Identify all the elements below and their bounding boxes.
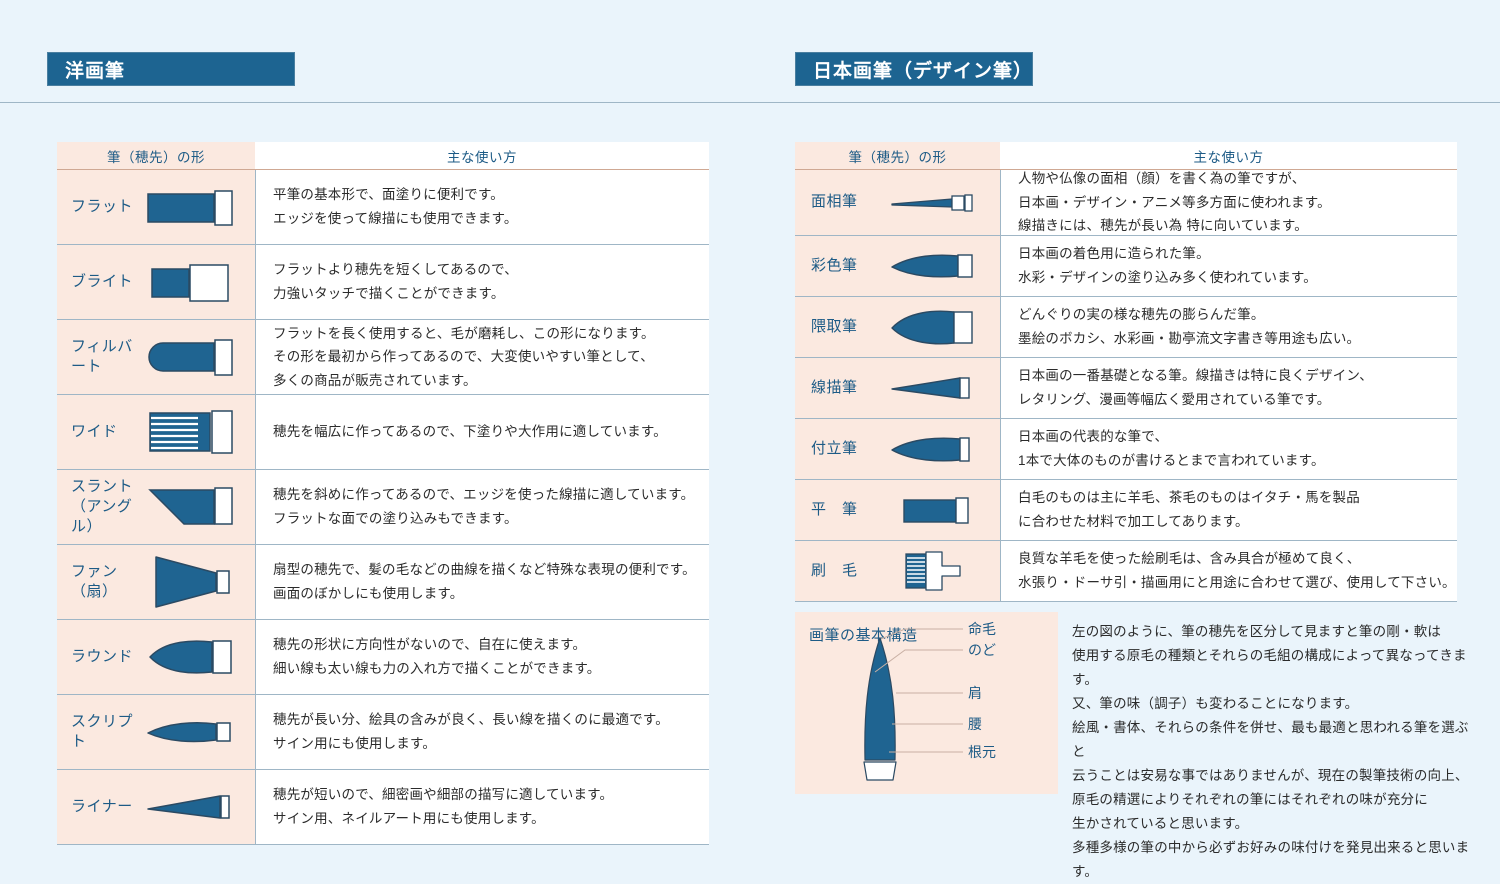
structure-label-nodo: のど	[968, 642, 996, 658]
structure-label-nemoto: 根元	[968, 744, 996, 760]
brush-structure-panel: 画筆の基本構造 命毛 のど 肩 腰 根元	[795, 612, 1058, 794]
column-header-usage: 主な使い方	[255, 142, 709, 169]
wide-brush-icon	[143, 407, 255, 457]
structure-label-koshi: 腰	[968, 716, 982, 732]
brush-name: ファン（扇）	[57, 562, 143, 603]
table-row: 隈取筆 どんぐりの実の様な穂先の膨らんだ筆。 墨絵のボカシ、水彩画・勘亭流文字書…	[795, 297, 1457, 358]
shape-cell: スラント （アングル）	[57, 470, 255, 544]
brush-name: ワイド	[57, 422, 143, 442]
brush-name: ブライト	[57, 272, 143, 292]
usage-text: どんぐりの実の様な穂先の膨らんだ筆。 墨絵のボカシ、水彩画・勘亭流文字書き等用途…	[1018, 303, 1360, 350]
usage-cell: 穂先を幅広に作ってあるので、下塗りや大作用に適しています。	[255, 395, 709, 469]
column-header-shape: 筆（穂先）の形	[795, 142, 1000, 169]
western-brush-table: 筆（穂先）の形 主な使い方 フラット 平筆の基本形で、面塗りに便利です。 エッジ…	[57, 142, 709, 845]
shape-cell: ラウンド	[57, 620, 255, 694]
brush-name: フラット	[57, 197, 143, 217]
table-row: フィルバート フラットを長く使用すると、毛が磨耗し、この形になります。 その形を…	[57, 320, 709, 395]
usage-cell: 良質な羊毛を使った絵刷毛は、含み具合が極めて良く、 水張り・ドーサ引・描画用にと…	[1000, 541, 1457, 601]
saishiki-brush-icon	[879, 249, 1000, 283]
usage-cell: 日本画の代表的な筆で、 1本で大体のものが書けるとまで言われています。	[1000, 419, 1457, 479]
structure-label-kata: 肩	[968, 685, 982, 701]
shape-cell: 隈取筆	[795, 297, 1000, 357]
usage-cell: 白毛のものは主に羊毛、茶毛のものはイタチ・馬を製品 に合わせた材料で加工してあり…	[1000, 480, 1457, 540]
table-row: スラント （アングル） 穂先を斜めに作ってあるので、エッジを使った線描に適してい…	[57, 470, 709, 545]
usage-text: 日本画の着色用に造られた筆。 水彩・デザインの塗り込み多く使われています。	[1018, 242, 1317, 289]
shape-cell: 平 筆	[795, 480, 1000, 540]
table-header-row: 筆（穂先）の形 主な使い方	[57, 142, 709, 170]
liner-brush-icon	[143, 787, 255, 827]
shape-cell: ワイド	[57, 395, 255, 469]
table-row: ワイド	[57, 395, 709, 470]
usage-cell: フラットより穂先を短くしてあるので、 力強いタッチで描くことができます。	[255, 245, 709, 319]
table-row: 付立筆 日本画の代表的な筆で、 1本で大体のものが書けるとまで言われています。	[795, 419, 1457, 480]
table-row: 刷 毛	[795, 541, 1457, 602]
tsuketate-brush-icon	[879, 433, 1000, 465]
usage-text: 扇型の穂先で、髪の毛などの曲線を描くなど特殊な表現の便利です。 画面のぼかしにも…	[273, 558, 696, 605]
japanese-brush-table: 筆（穂先）の形 主な使い方 面相筆 人物や仏像の面相（顔）を書く為の筆ですが、 …	[795, 142, 1457, 602]
brush-name: ライナー	[57, 797, 143, 817]
usage-text: 穂先が長い分、絵具の含みが良く、長い線を描くのに最適です。 サイン用にも使用しま…	[273, 708, 669, 755]
table-row: 彩色筆 日本画の着色用に造られた筆。 水彩・デザインの塗り込み多く使われています…	[795, 236, 1457, 297]
brush-structure-diagram: 命毛 のど 肩 腰 根元	[795, 612, 1058, 794]
top-divider	[0, 102, 1500, 103]
brush-name: ラウンド	[57, 647, 143, 667]
usage-text: 穂先を斜めに作ってあるので、エッジを使った線描に適しています。 フラットな面での…	[273, 483, 694, 530]
brush-name: 刷 毛	[795, 561, 879, 581]
brush-name: 彩色筆	[795, 256, 879, 276]
table-row: フラット 平筆の基本形で、面塗りに便利です。 エッジを使って線描にも使用できます…	[57, 170, 709, 245]
table-row: ラウンド 穂先の形状に方向性がないので、自在に使えます。 細い線も太い線も力の入…	[57, 620, 709, 695]
brush-name: 面相筆	[795, 192, 879, 212]
usage-text: フラットを長く使用すると、毛が磨耗し、この形になります。 その形を最初から作って…	[273, 322, 655, 393]
table-row: ファン（扇） 扇型の穂先で、髪の毛などの曲線を描くなど特殊な表現の便利です。 画…	[57, 545, 709, 620]
shape-cell: 線描筆	[795, 358, 1000, 418]
column-header-usage: 主な使い方	[1000, 142, 1457, 169]
usage-cell: 扇型の穂先で、髪の毛などの曲線を描くなど特殊な表現の便利です。 画面のぼかしにも…	[255, 545, 709, 619]
usage-text: 良質な羊毛を使った絵刷毛は、含み具合が極めて良く、 水張り・ドーサ引・描画用にと…	[1018, 547, 1456, 594]
brush-name: スラント （アングル）	[57, 477, 143, 538]
slant-brush-icon	[143, 481, 255, 533]
brush-name: 平 筆	[795, 500, 879, 520]
shape-cell: フラット	[57, 170, 255, 244]
shape-cell: フィルバート	[57, 320, 255, 394]
shape-cell: ライナー	[57, 770, 255, 844]
table-header-row: 筆（穂先）の形 主な使い方	[795, 142, 1457, 170]
table-row: スクリプト 穂先が長い分、絵具の含みが良く、長い線を描くのに最適です。 サイン用…	[57, 695, 709, 770]
hira-brush-icon	[879, 494, 1000, 526]
usage-cell: 穂先が長い分、絵具の含みが良く、長い線を描くのに最適です。 サイン用にも使用しま…	[255, 695, 709, 769]
usage-text: 日本画の一番基礎となる筆。線描きは特に良くデザイン、 レタリング、漫画等幅広く愛…	[1018, 364, 1373, 411]
brush-name: 隈取筆	[795, 317, 879, 337]
shape-cell: 刷 毛	[795, 541, 1000, 601]
hake-brush-icon	[879, 549, 1000, 593]
usage-cell: フラットを長く使用すると、毛が磨耗し、この形になります。 その形を最初から作って…	[255, 320, 709, 394]
brush-name: フィルバート	[57, 337, 143, 378]
round-brush-icon	[143, 634, 255, 680]
shape-cell: ブライト	[57, 245, 255, 319]
usage-cell: 日本画の着色用に造られた筆。 水彩・デザインの塗り込み多く使われています。	[1000, 236, 1457, 296]
usage-cell: 日本画の一番基礎となる筆。線描きは特に良くデザイン、 レタリング、漫画等幅広く愛…	[1000, 358, 1457, 418]
usage-text: 穂先が短いので、細密画や細部の描写に適しています。 サイン用、ネイルアート用にも…	[273, 783, 613, 830]
senbyou-brush-icon	[879, 373, 1000, 403]
usage-cell: 穂先が短いので、細密画や細部の描写に適しています。 サイン用、ネイルアート用にも…	[255, 770, 709, 844]
table-row: ライナー 穂先が短いので、細密画や細部の描写に適しています。 サイン用、ネイルア…	[57, 770, 709, 845]
table-row: 平 筆 白毛のものは主に羊毛、茶毛のものはイタチ・馬を製品 に合わせた材料で加工…	[795, 480, 1457, 541]
shape-cell: ファン（扇）	[57, 545, 255, 619]
shape-cell: 面相筆	[795, 170, 1000, 235]
usage-text: 白毛のものは主に羊毛、茶毛のものはイタチ・馬を製品 に合わせた材料で加工してあり…	[1018, 486, 1360, 533]
shape-cell: 彩色筆	[795, 236, 1000, 296]
column-header-shape: 筆（穂先）の形	[57, 142, 255, 169]
structure-label-inoge: 命毛	[968, 621, 996, 637]
usage-cell: 穂先を斜めに作ってあるので、エッジを使った線描に適しています。 フラットな面での…	[255, 470, 709, 544]
section-header-japanese-brushes: 日本画筆（デザイン筆）	[795, 52, 1033, 86]
kumadori-brush-icon	[879, 307, 1000, 347]
usage-cell: 人物や仏像の面相（顔）を書く為の筆ですが、 日本画・デザイン・アニメ等多方面に使…	[1000, 170, 1457, 235]
section-title-left: 洋画筆	[65, 56, 125, 83]
usage-text: 穂先を幅広に作ってあるので、下塗りや大作用に適しています。	[273, 420, 667, 444]
usage-text: 人物や仏像の面相（顔）を書く為の筆ですが、 日本画・デザイン・アニメ等多方面に使…	[1018, 167, 1331, 238]
flat-brush-icon	[143, 184, 255, 230]
usage-text: 穂先の形状に方向性がないので、自在に使えます。 細い線も太い線も力の入れ方で描く…	[273, 633, 600, 680]
brush-name: 付立筆	[795, 439, 879, 459]
usage-text: 日本画の代表的な筆で、 1本で大体のものが書けるとまで言われています。	[1018, 425, 1325, 472]
shape-cell: スクリプト	[57, 695, 255, 769]
table-row: ブライト フラットより穂先を短くしてあるので、 力強いタッチで描くことができます…	[57, 245, 709, 320]
section-header-western-brushes: 洋画筆	[47, 52, 295, 86]
usage-cell: どんぐりの実の様な穂先の膨らんだ筆。 墨絵のボカシ、水彩画・勘亭流文字書き等用途…	[1000, 297, 1457, 357]
usage-text: 平筆の基本形で、面塗りに便利です。 エッジを使って線描にも使用できます。	[273, 183, 518, 230]
brush-name: 線描筆	[795, 378, 879, 398]
table-row: 面相筆 人物や仏像の面相（顔）を書く為の筆ですが、 日本画・デザイン・アニメ等多…	[795, 170, 1457, 236]
usage-text: フラットより穂先を短くしてあるので、 力強いタッチで描くことができます。	[273, 258, 518, 305]
mensou-brush-icon	[879, 190, 1000, 216]
filbert-brush-icon	[143, 334, 255, 380]
structure-description: 左の図のように、筆の穂先を区分して見ますと筆の剛・軟は 使用する原毛の種類とそれ…	[1072, 620, 1472, 884]
shape-cell: 付立筆	[795, 419, 1000, 479]
brush-name: スクリプト	[57, 712, 143, 753]
table-row: 線描筆 日本画の一番基礎となる筆。線描きは特に良くデザイン、 レタリング、漫画等…	[795, 358, 1457, 419]
bright-brush-icon	[143, 259, 255, 305]
script-brush-icon	[143, 712, 255, 752]
usage-cell: 平筆の基本形で、面塗りに便利です。 エッジを使って線描にも使用できます。	[255, 170, 709, 244]
usage-cell: 穂先の形状に方向性がないので、自在に使えます。 細い線も太い線も力の入れ方で描く…	[255, 620, 709, 694]
section-title-right: 日本画筆（デザイン筆）	[813, 56, 1032, 83]
poster-page: 洋画筆 筆（穂先）の形 主な使い方 フラット 平筆の基本形で、面塗りに便利です。…	[0, 0, 1500, 838]
fan-brush-icon	[143, 553, 255, 611]
